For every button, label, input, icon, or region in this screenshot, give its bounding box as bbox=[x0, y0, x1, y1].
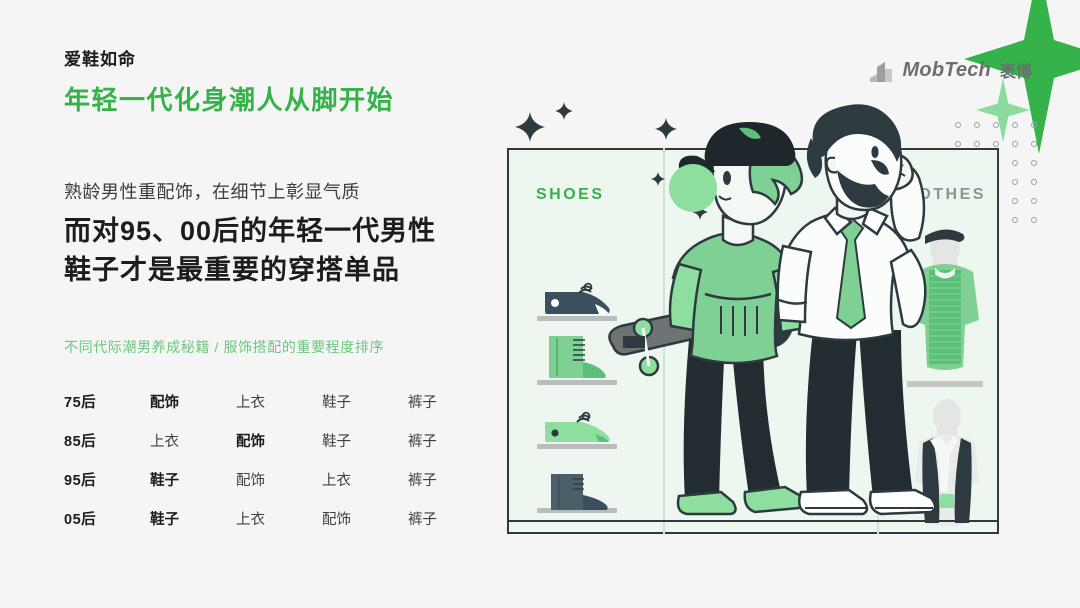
rank-cell-4: 裤子 bbox=[408, 469, 464, 490]
rank-cell-4: 裤子 bbox=[408, 508, 464, 529]
rank-cell-2: 配饰 bbox=[236, 430, 322, 451]
rank-cell-3: 鞋子 bbox=[322, 391, 408, 412]
mobtech-building-mark-icon bbox=[870, 58, 896, 82]
generation-label: 95后 bbox=[64, 469, 150, 490]
mobtech-logo: MobTech 袤博 bbox=[870, 58, 1032, 82]
sparkle-icon-1 bbox=[515, 112, 545, 142]
shoe-dark-boot bbox=[543, 472, 613, 512]
claim-line-2: 鞋子才是最重要的穿搭单品 bbox=[64, 251, 436, 290]
rank-cell-1: 配饰 bbox=[150, 391, 236, 412]
grid-dot bbox=[1012, 122, 1018, 128]
rank-cell-3: 上衣 bbox=[322, 469, 408, 490]
illustration-panel: SHOES CLOTHES bbox=[507, 148, 999, 534]
grid-dot bbox=[1031, 122, 1037, 128]
grid-dot bbox=[1031, 179, 1037, 185]
grid-dot bbox=[1012, 198, 1018, 204]
rank-cell-4: 裤子 bbox=[408, 430, 464, 451]
sparkle-small-icon bbox=[976, 78, 1030, 142]
rank-cell-4: 裤子 bbox=[408, 391, 464, 412]
logo-brand-cn: 袤博 bbox=[1000, 58, 1032, 82]
grid-dot bbox=[1031, 141, 1037, 147]
shoe-green-boot bbox=[543, 334, 613, 382]
chart-caption: 不同代际潮男养成秘籍 / 服饰搭配的重要程度排序 bbox=[64, 337, 384, 357]
generation-label: 85后 bbox=[64, 430, 150, 451]
generation-label: 75后 bbox=[64, 391, 150, 412]
rank-cell-2: 配饰 bbox=[236, 469, 322, 490]
sparkle-icon-2 bbox=[555, 102, 573, 120]
eyebrow-text: 爱鞋如命 bbox=[64, 45, 136, 70]
shoe-green-sneaker bbox=[543, 412, 613, 446]
table-row: 75后配饰上衣鞋子裤子 bbox=[64, 382, 464, 421]
grid-dot bbox=[1031, 198, 1037, 204]
character-bearded-man bbox=[775, 104, 965, 544]
grid-dot bbox=[993, 141, 999, 147]
logo-brand-latin: MobTech bbox=[903, 59, 991, 82]
grid-dot bbox=[1031, 160, 1037, 166]
grid-dot bbox=[974, 122, 980, 128]
slide-canvas: MobTech 袤博 爱鞋如命 年轻一代化身潮人从脚开始 熟龄男性重配饰，在细节… bbox=[0, 0, 1080, 608]
label-shoes: SHOES bbox=[536, 186, 605, 204]
grid-dot bbox=[1012, 217, 1018, 223]
grid-dot bbox=[993, 122, 999, 128]
rank-cell-1: 鞋子 bbox=[150, 508, 236, 529]
rank-cell-1: 鞋子 bbox=[150, 469, 236, 490]
grid-dot bbox=[1031, 217, 1037, 223]
rank-cell-1: 上衣 bbox=[150, 430, 236, 451]
ranking-table: 75后配饰上衣鞋子裤子85后上衣配饰鞋子裤子95后鞋子配饰上衣裤子05后鞋子上衣… bbox=[64, 382, 464, 538]
generation-label: 05后 bbox=[64, 508, 150, 529]
ground-line bbox=[507, 520, 999, 522]
claim-line-1: 而对95、00后的年轻一代男性 bbox=[64, 212, 436, 251]
rank-cell-3: 配饰 bbox=[322, 508, 408, 529]
claim-text: 而对95、00后的年轻一代男性 鞋子才是最重要的穿搭单品 bbox=[64, 212, 436, 290]
table-row: 05后鞋子上衣配饰裤子 bbox=[64, 499, 464, 538]
grid-dot bbox=[974, 141, 980, 147]
rank-cell-2: 上衣 bbox=[236, 391, 322, 412]
table-row: 85后上衣配饰鞋子裤子 bbox=[64, 421, 464, 460]
grid-dot bbox=[1012, 160, 1018, 166]
grid-dot bbox=[1012, 179, 1018, 185]
lede-text: 熟龄男性重配饰，在细节上彰显气质 bbox=[64, 178, 360, 204]
page-title: 年轻一代化身潮人从脚开始 bbox=[64, 80, 394, 117]
table-row: 95后鞋子配饰上衣裤子 bbox=[64, 460, 464, 499]
rank-cell-3: 鞋子 bbox=[322, 430, 408, 451]
rank-cell-2: 上衣 bbox=[236, 508, 322, 529]
shoe-navy-low-top bbox=[543, 284, 613, 318]
grid-dot bbox=[1012, 141, 1018, 147]
